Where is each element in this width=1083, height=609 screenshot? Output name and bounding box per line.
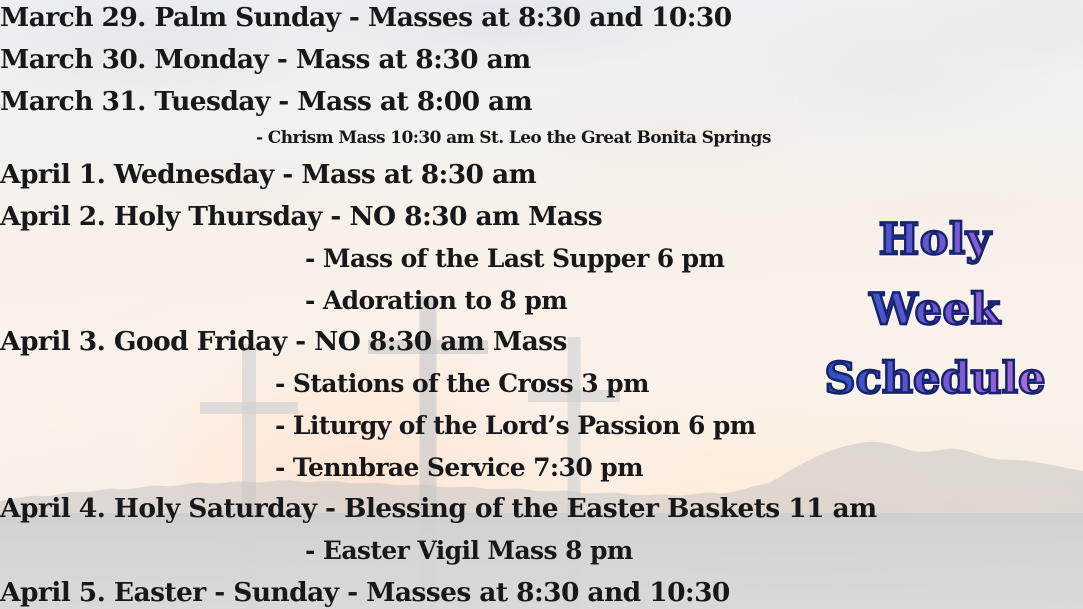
- schedule-line: - Tennbrae Service 7:30 pm: [275, 455, 643, 480]
- title-word-week: Week: [804, 276, 1066, 346]
- schedule-line: April 5. Easter - Sunday - Masses at 8:3…: [0, 580, 730, 607]
- holy-week-schedule-poster: March 29. Palm Sunday - Masses at 8:30 a…: [0, 0, 1083, 609]
- schedule-line: March 31. Tuesday - Mass at 8:00 am: [0, 89, 532, 116]
- schedule-line: - Stations of the Cross 3 pm: [275, 371, 649, 396]
- schedule-line: April 2. Holy Thursday - NO 8:30 am Mass: [0, 204, 602, 231]
- schedule-line: - Chrism Mass 10:30 am St. Leo the Great…: [256, 130, 771, 147]
- schedule-line: - Mass of the Last Supper 6 pm: [305, 246, 724, 271]
- title-word-holy: Holy: [804, 206, 1066, 276]
- schedule-line: April 3. Good Friday - NO 8:30 am Mass: [0, 329, 567, 356]
- schedule-line: - Adoration to 8 pm: [305, 288, 567, 313]
- poster-title: Holy Week Schedule: [804, 206, 1066, 415]
- schedule-line: March 30. Monday - Mass at 8:30 am: [0, 47, 531, 74]
- schedule-line: March 29. Palm Sunday - Masses at 8:30 a…: [0, 5, 732, 32]
- schedule-line: - Liturgy of the Lord’s Passion 6 pm: [275, 413, 756, 438]
- title-word-schedule: Schedule: [804, 345, 1066, 415]
- schedule-line: - Easter Vigil Mass 8 pm: [305, 538, 633, 563]
- schedule-line: April 1. Wednesday - Mass at 8:30 am: [0, 162, 536, 189]
- schedule-line: April 4. Holy Saturday - Blessing of the…: [0, 496, 877, 523]
